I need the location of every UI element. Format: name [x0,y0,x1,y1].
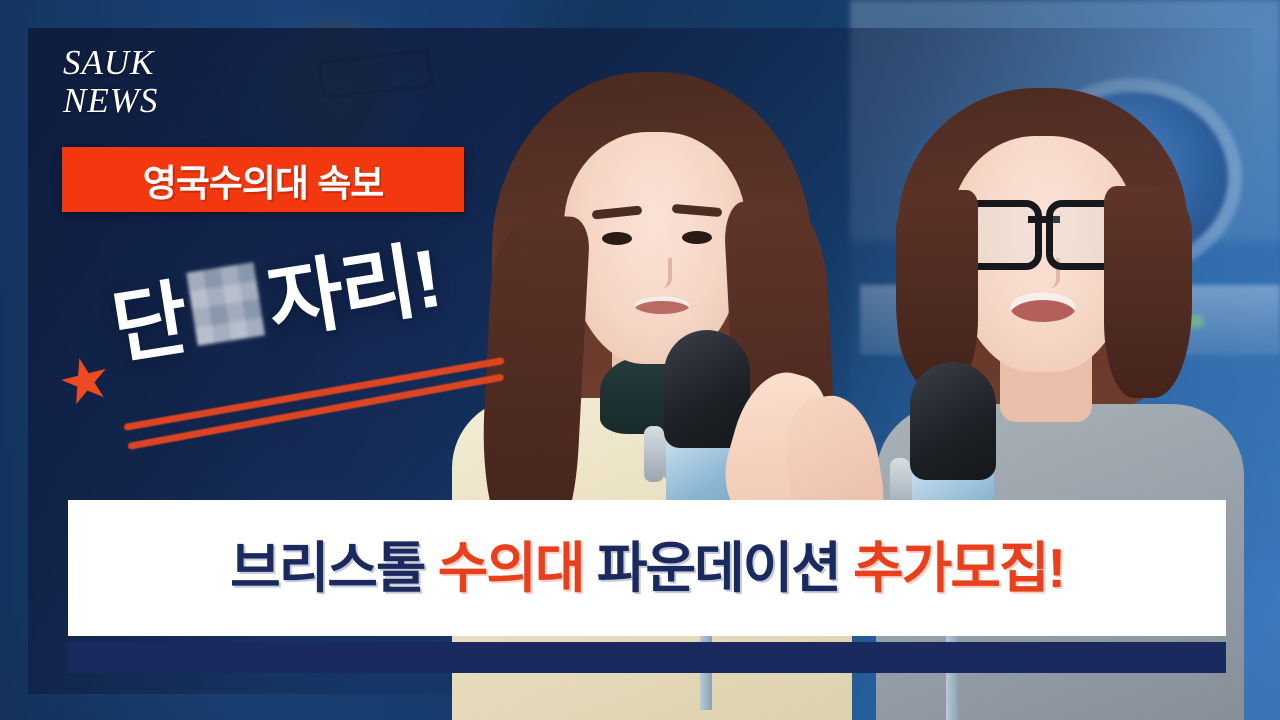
channel-logo-line-1: SAUK [63,44,158,82]
speaker-left-eye [682,231,712,244]
microphone-yoke [644,426,664,482]
news-thumbnail: SAUK NEWS 영국수의대 속보 ★ 단 자리! 브리스톨 수의대 파운데이… [0,0,1280,720]
microphone-head [910,362,996,480]
breaking-news-badge-label: 영국수의대 속보 [143,153,384,207]
bottom-banner: 브리스톨 수의대 파운데이션 추가모집! [68,500,1226,636]
channel-logo: SAUK NEWS [63,44,158,120]
censored-mosaic-block [187,262,266,346]
speaker-left-eye [602,232,632,245]
speaker-right-hair-strand [1104,186,1192,398]
bottom-banner-accent-bar [68,642,1226,673]
breaking-news-badge: 영국수의대 속보 [62,147,464,212]
speaker-left-mouth [634,296,690,314]
speaker-right-hair-strand [896,190,978,390]
banner-segment-4: 추가모집! [853,537,1064,599]
banner-segment-2: 수의대 [438,537,584,599]
banner-segment-1: 브리스톨 [230,537,424,599]
speaker-left-nose [648,258,672,288]
speaker-left-face [564,132,746,364]
banner-segment-3: 파운데이션 [597,537,840,599]
bottom-banner-text: 브리스톨 수의대 파운데이션 추가모집! [230,541,1064,596]
speaker-right-mouth [1010,292,1076,322]
channel-logo-line-2: NEWS [63,82,158,120]
